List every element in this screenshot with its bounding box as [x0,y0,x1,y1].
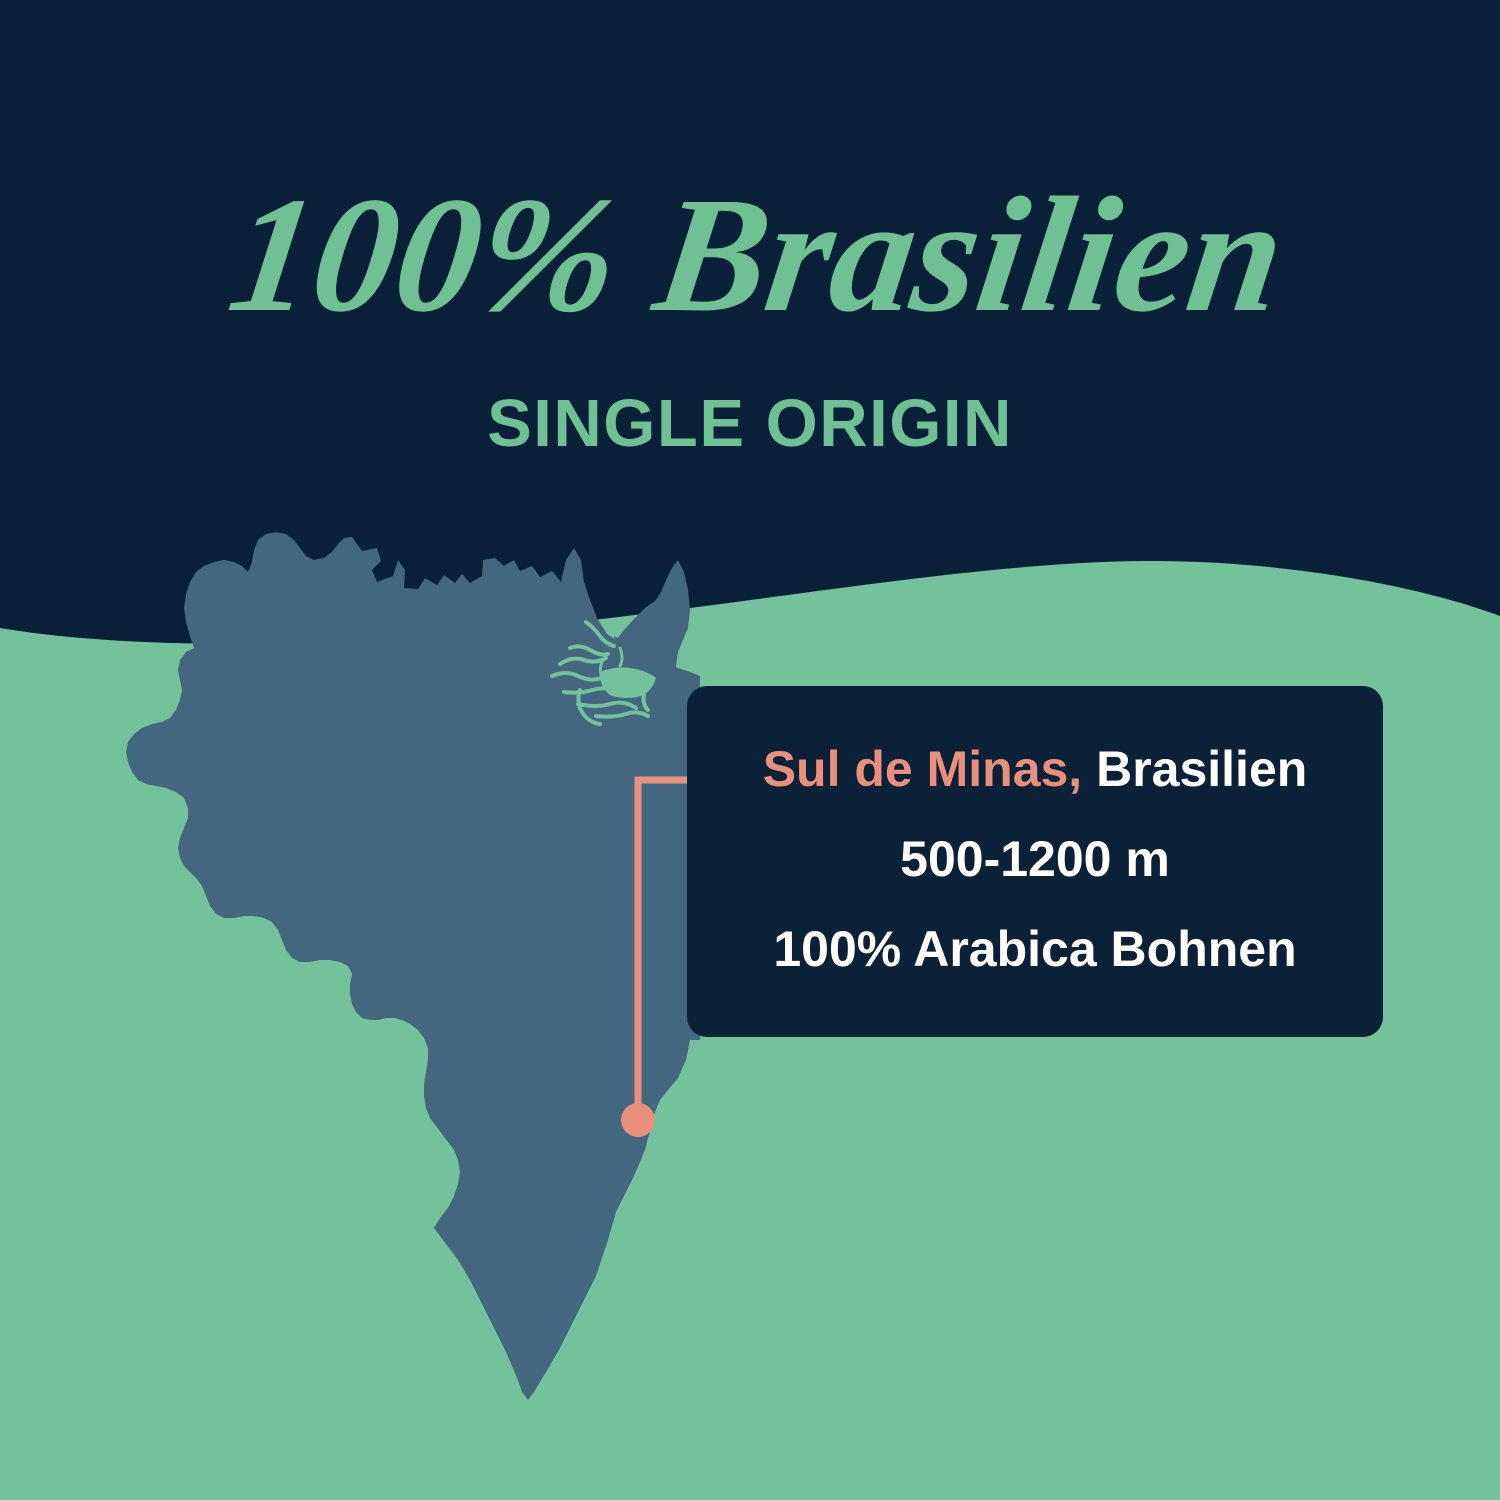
card-line-altitude: 500-1200 m [900,834,1170,884]
origin-info-card: Sul de Minas, Brasilien 500-1200 m 100% … [687,686,1383,1037]
page-title: 100% Brasilien [0,150,1500,380]
headline-text: 100% Brasilien [225,163,1275,346]
origin-region-label: Sul de Minas, [763,741,1083,797]
card-line-origin: Sul de Minas, Brasilien [763,744,1308,794]
product-infographic: 100% Brasilien SINGLE ORIGIN Sul de Mina… [0,0,1500,1500]
subheadline: SINGLE ORIGIN [0,390,1500,457]
headline-block: 100% Brasilien SINGLE ORIGIN [0,150,1500,457]
headline-script-art: 100% Brasilien [225,150,1275,370]
card-line-bean-type: 100% Arabica Bohnen [773,924,1296,974]
brazil-silhouette-path [126,532,700,1400]
origin-country-label: Brasilien [1082,741,1307,797]
